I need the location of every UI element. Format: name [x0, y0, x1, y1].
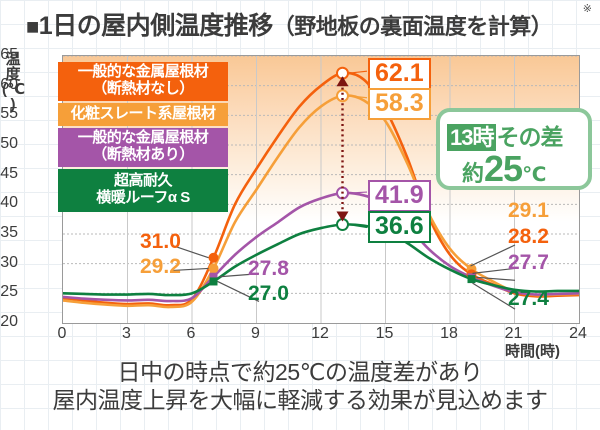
x-tick-label: 15: [365, 325, 405, 343]
y-tick-label: 30: [0, 254, 18, 272]
x-tick-label: 24: [558, 325, 598, 343]
x-tick-label: 0: [42, 325, 82, 343]
legend-label-line1: 一般的な金属屋根材: [60, 64, 226, 81]
callout-peak-slate: 58.3: [368, 88, 431, 120]
title-bullet: ■: [26, 14, 39, 39]
reference-mark: ※: [583, 2, 592, 15]
y-tick-label: 25: [0, 283, 18, 301]
difference-annotation: 13時その差 約25℃: [436, 108, 592, 190]
callout-peak-yokodan: 36.6: [368, 211, 431, 243]
x-tick-label: 12: [300, 325, 340, 343]
data-point-marker: [210, 264, 218, 272]
legend-item-metal-insulation: 一般的な金属屋根材 （断熱材あり）: [58, 128, 228, 167]
legend-item-yokodan-roof: 超高耐久 横暖ルーフα S: [58, 169, 228, 212]
callout-morning-metal-insulation: 27.8: [248, 258, 289, 279]
callout-morning-metal-no-insulation: 31.0: [140, 231, 181, 252]
annotation-unit: ℃: [522, 164, 546, 186]
callout-evening-slate: 29.1: [508, 200, 549, 221]
x-tick-label: 3: [107, 325, 147, 343]
legend-label-line1: 超高耐久: [60, 173, 226, 190]
annotation-row-2: 約25℃: [462, 148, 546, 190]
callout-morning-slate: 29.2: [140, 256, 181, 277]
data-point-marker: [210, 254, 218, 262]
annotation-value: 25: [484, 148, 522, 189]
x-tick-label: 6: [171, 325, 211, 343]
legend-label-line2: （断熱材なし）: [60, 81, 226, 98]
callout-peak-metal-insulation: 41.9: [368, 180, 431, 212]
chart-page: ■1日の屋内側温度推移（野地板の裏面温度を計算） ※ 温 度 (℃ ) 時間(時…: [0, 0, 600, 430]
y-tick-label: 35: [0, 224, 18, 242]
page-title: ■1日の屋内側温度推移（野地板の裏面温度を計算）: [26, 6, 552, 42]
y-tick-label: 65: [0, 46, 18, 64]
legend-label-line1: 一般的な金属屋根材: [60, 130, 226, 147]
data-point-marker: [468, 275, 476, 283]
caption: 日中の時点で約25℃の温度差があり 屋内温度上昇を大幅に軽減する効果が見込めます: [0, 358, 600, 414]
callout-peak-metal-no-insulation: 62.1: [368, 58, 431, 90]
caption-line-1: 日中の時点で約25℃の温度差があり: [0, 358, 600, 386]
annotation-text-1: その差: [496, 124, 562, 150]
x-tick-label: 9: [236, 325, 276, 343]
annotation-approx: 約: [462, 161, 484, 186]
callout-evening-yokodan: 27.4: [508, 288, 549, 309]
y-tick-label: 55: [0, 105, 18, 123]
y-tick-label: 60: [0, 76, 18, 94]
annotation-row-1: 13時その差: [447, 118, 562, 152]
callout-morning-yokodan: 27.0: [248, 283, 289, 304]
title-paren: （野地板の裏面温度を計算）: [273, 14, 553, 39]
x-tick-label: 18: [429, 325, 469, 343]
y-tick-label: 40: [0, 194, 18, 212]
callout-evening-metal-insulation: 27.7: [508, 252, 549, 273]
annotation-time-badge: 13時: [447, 124, 496, 151]
title-main: 1日の屋内側温度推移: [39, 12, 273, 40]
legend-label-line2: （断熱材あり）: [60, 147, 226, 164]
legend: 一般的な金属屋根材 （断熱材なし） 化粧スレート系屋根材 一般的な金属屋根材 （…: [58, 62, 228, 214]
legend-label-line1: 化粧スレート系屋根材: [60, 106, 226, 123]
y-tick-label: 45: [0, 165, 18, 183]
callout-evening-metal-no-insulation: 28.2: [508, 226, 549, 247]
x-tick-label: 21: [494, 325, 534, 343]
legend-label-line2: 横暖ルーフα S: [60, 190, 226, 207]
legend-item-metal-no-insulation: 一般的な金属屋根材 （断熱材なし）: [58, 62, 228, 101]
legend-item-slate: 化粧スレート系屋根材: [58, 103, 228, 127]
caption-line-2: 屋内温度上昇を大幅に軽減する効果が見込めます: [0, 386, 600, 414]
y-tick-label: 50: [0, 135, 18, 153]
y-tick-label: 20: [0, 313, 18, 331]
data-point-marker: [210, 277, 218, 285]
